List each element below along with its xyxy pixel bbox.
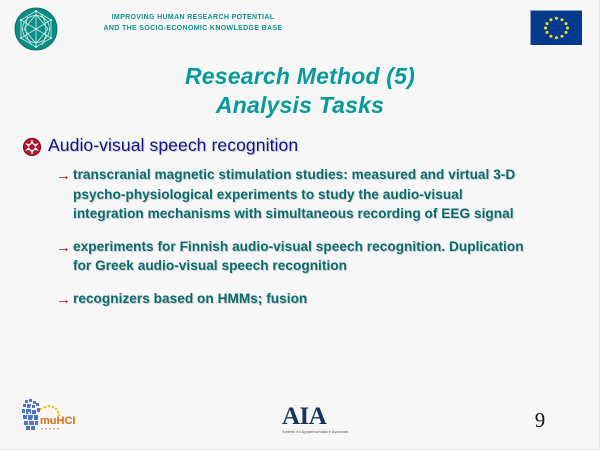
slide-body: Audio-visual speech recognition → transc… — [22, 134, 582, 322]
slide-header: IMPROVING HUMAN RESEARCH POTENTIAL AND T… — [0, 0, 600, 58]
eu-flag-stars — [531, 11, 582, 45]
bullet-level2: → experiments for Finnish audio-visual s… — [56, 237, 582, 276]
presentation-slide: IMPROVING HUMAN RESEARCH POTENTIAL AND T… — [0, 0, 600, 450]
bullet-level2-label: transcranial magnetic stimulation studie… — [73, 165, 528, 224]
star-burst-icon-graphic — [22, 137, 42, 157]
bullet-level2-group: → transcranial magnetic stimulation stud… — [56, 165, 582, 309]
bullet-level2-label: recognizers based on HMMs; fusion — [73, 289, 307, 309]
muhci-logo: muHCI — [18, 396, 82, 438]
european-union-flag — [530, 10, 582, 45]
bullet-level2: → recognizers based on HMMs; fusion — [56, 289, 582, 309]
bullet-level1-label: Audio-visual speech recognition — [48, 134, 298, 156]
eu-research-emblem-graphic — [14, 7, 58, 51]
slide-title-line1: Research Method (5) — [0, 62, 600, 91]
slide-title: Research Method (5) Analysis Tasks — [0, 62, 600, 120]
programme-title-line1: IMPROVING HUMAN RESEARCH POTENTIAL — [68, 13, 318, 24]
bullet-level2: → transcranial magnetic stimulation stud… — [56, 165, 582, 224]
aia-logo-text: AIA — [282, 404, 340, 429]
muhci-logo-text: muHCI — [40, 415, 75, 427]
programme-title-line2: AND THE SOCIO-ECONOMIC KNOWLEDGE BASE — [68, 24, 318, 35]
aia-logo: AIA Sistemi ed Apparecchiature Avanzate — [282, 404, 340, 438]
page-number: 9 — [520, 408, 560, 433]
arrow-right-icon: → — [56, 166, 73, 185]
eu-research-emblem — [14, 7, 58, 51]
star-burst-icon — [22, 137, 42, 157]
bullet-level1: Audio-visual speech recognition — [22, 134, 582, 157]
arrow-right-icon: → — [56, 238, 73, 257]
slide-title-line2: Analysis Tasks — [0, 91, 600, 120]
arrow-right-icon: → — [56, 290, 73, 309]
aia-logo-tagline: Sistemi ed Apparecchiature Avanzate — [282, 430, 340, 434]
bullet-level2-label: experiments for Finnish audio-visual spe… — [73, 237, 528, 276]
programme-title: IMPROVING HUMAN RESEARCH POTENTIAL AND T… — [68, 13, 318, 34]
muhci-logo-graphic: muHCI — [18, 396, 82, 438]
